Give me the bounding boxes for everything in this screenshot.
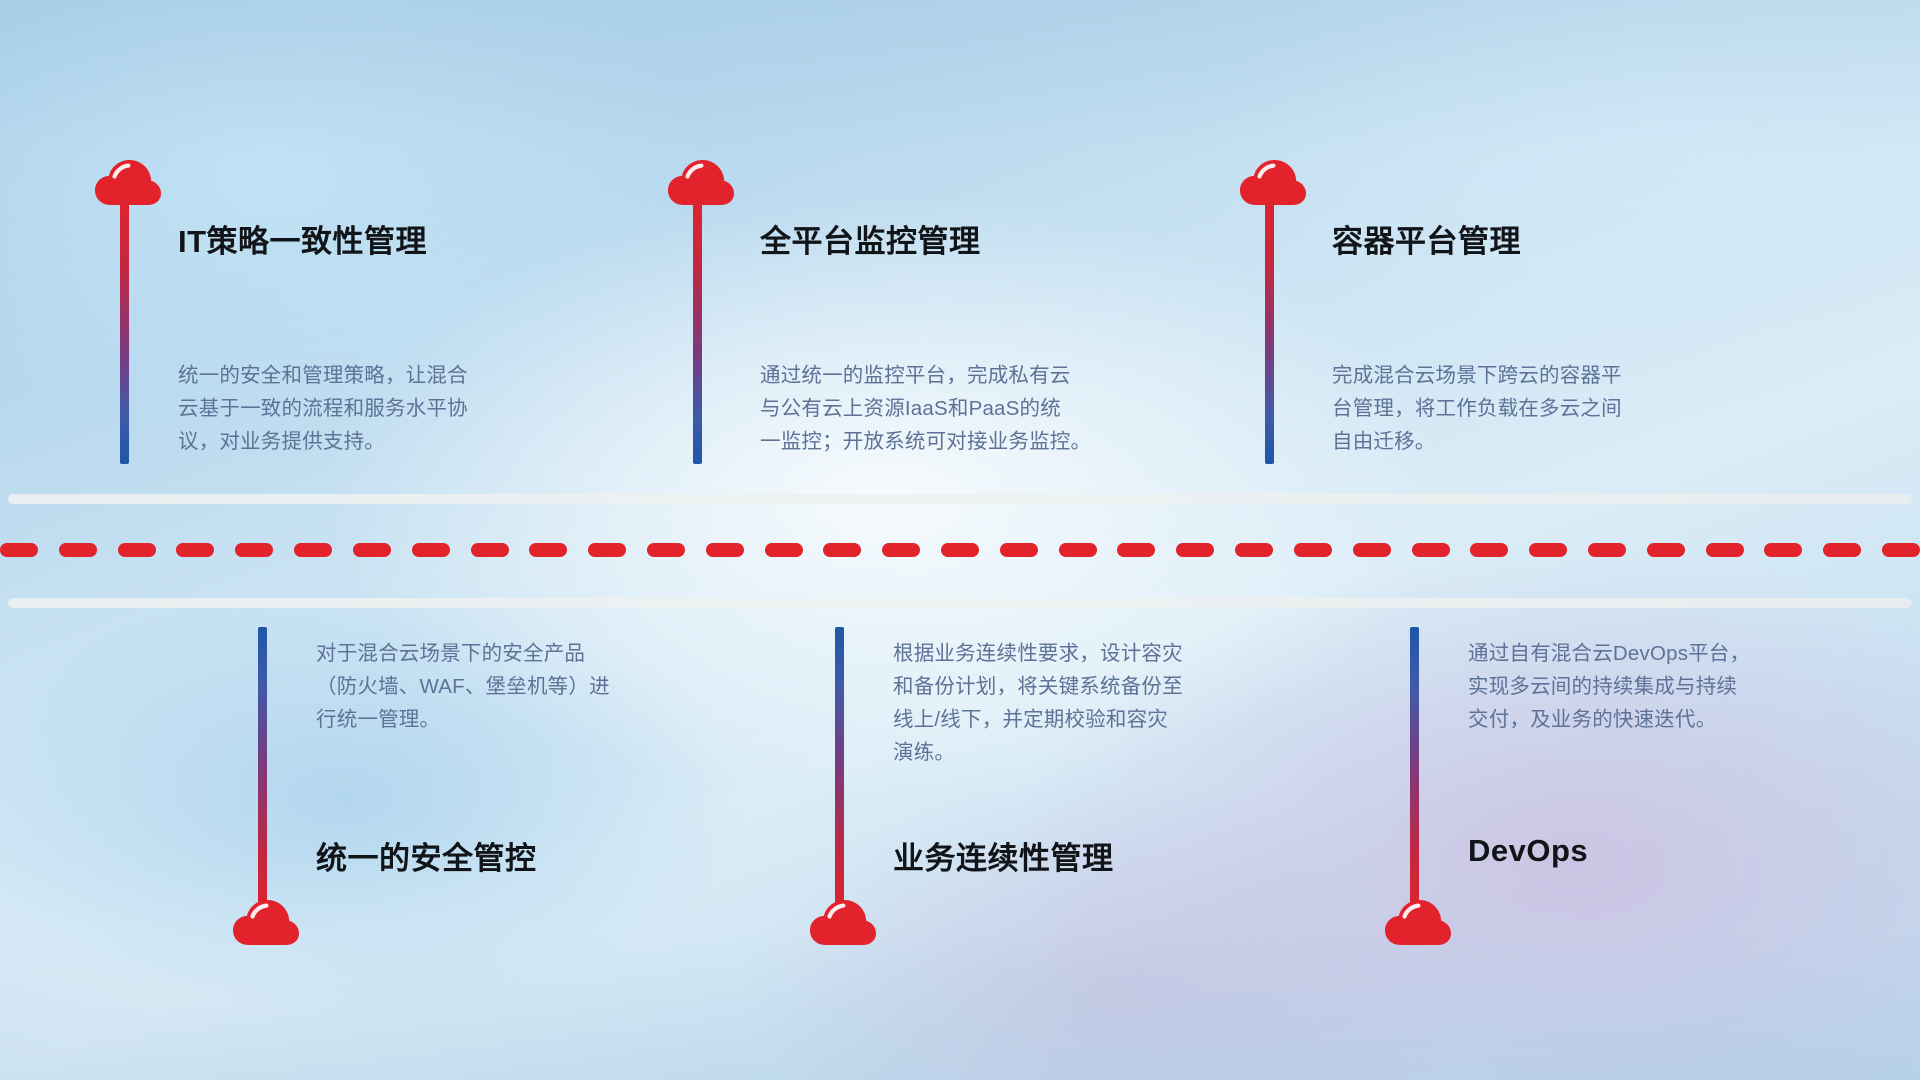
- road-dash: [1059, 543, 1097, 557]
- road-dash: [471, 543, 509, 557]
- connector-bar: [1265, 196, 1274, 464]
- cloud-marker-icon: [233, 900, 299, 946]
- connector-bar: [693, 196, 702, 464]
- road-line-upper: [8, 494, 1912, 504]
- road-dash: [647, 543, 685, 557]
- road-dash: [1764, 543, 1802, 557]
- item-title: 容器平台管理: [1332, 216, 1521, 261]
- item-description: 完成混合云场景下跨云的容器平 台管理，将工作负载在多云之间 自由迁移。: [1332, 359, 1772, 458]
- road-dashed-centerline: [0, 543, 1920, 557]
- road-dash: [1117, 543, 1155, 557]
- road-dash: [1647, 543, 1685, 557]
- item-title: DevOps: [1468, 833, 1588, 869]
- road-dash: [1000, 543, 1038, 557]
- road-dash: [529, 543, 567, 557]
- item-description: 通过自有混合云DevOps平台， 实现多云间的持续集成与持续 交付，及业务的快速…: [1468, 637, 1898, 736]
- road-dash: [706, 543, 744, 557]
- road-dash: [235, 543, 273, 557]
- road-dash: [118, 543, 156, 557]
- connector-bar: [835, 627, 844, 917]
- road-dash: [353, 543, 391, 557]
- item-title: IT策略一致性管理: [178, 216, 427, 261]
- connector-bar: [120, 196, 129, 464]
- road-dash: [1294, 543, 1332, 557]
- road-dash: [765, 543, 803, 557]
- road-dash: [0, 543, 38, 557]
- item-title: 业务连续性管理: [893, 833, 1114, 878]
- road-dash: [412, 543, 450, 557]
- road-dash: [59, 543, 97, 557]
- item-description: 根据业务连续性要求，设计容灾 和备份计划，将关键系统备份至 线上/线下，并定期校…: [893, 637, 1333, 769]
- connector-bar: [1410, 627, 1419, 917]
- road-line-lower: [8, 598, 1912, 608]
- road-dash: [941, 543, 979, 557]
- road-dash: [882, 543, 920, 557]
- road-dash: [1706, 543, 1744, 557]
- road-dash: [176, 543, 214, 557]
- road-dash: [1235, 543, 1273, 557]
- road-dash: [294, 543, 332, 557]
- infographic-canvas: IT策略一致性管理 统一的安全和管理策略，让混合 云基于一致的流程和服务水平协 …: [0, 0, 1920, 1080]
- connector-bar: [258, 627, 267, 917]
- item-title: 统一的安全管控: [316, 833, 537, 878]
- item-title: 全平台监控管理: [760, 216, 981, 261]
- item-description: 统一的安全和管理策略，让混合 云基于一致的流程和服务水平协 议，对业务提供支持。: [178, 359, 608, 458]
- road-dash: [1529, 543, 1567, 557]
- road-dash: [1823, 543, 1861, 557]
- road-dash: [1588, 543, 1626, 557]
- item-description: 对于混合云场景下的安全产品 （防火墙、WAF、堡垒机等）进 行统一管理。: [316, 637, 746, 736]
- road-dash: [588, 543, 626, 557]
- road-dash: [1412, 543, 1450, 557]
- road-dash: [1882, 543, 1920, 557]
- road-dash: [1470, 543, 1508, 557]
- road-dash: [823, 543, 861, 557]
- item-description: 通过统一的监控平台，完成私有云 与公有云上资源IaaS和PaaS的统 一监控；开…: [760, 359, 1200, 458]
- cloud-marker-icon: [810, 900, 876, 946]
- cloud-marker-icon: [1385, 900, 1451, 946]
- road-dash: [1176, 543, 1214, 557]
- road-dash: [1353, 543, 1391, 557]
